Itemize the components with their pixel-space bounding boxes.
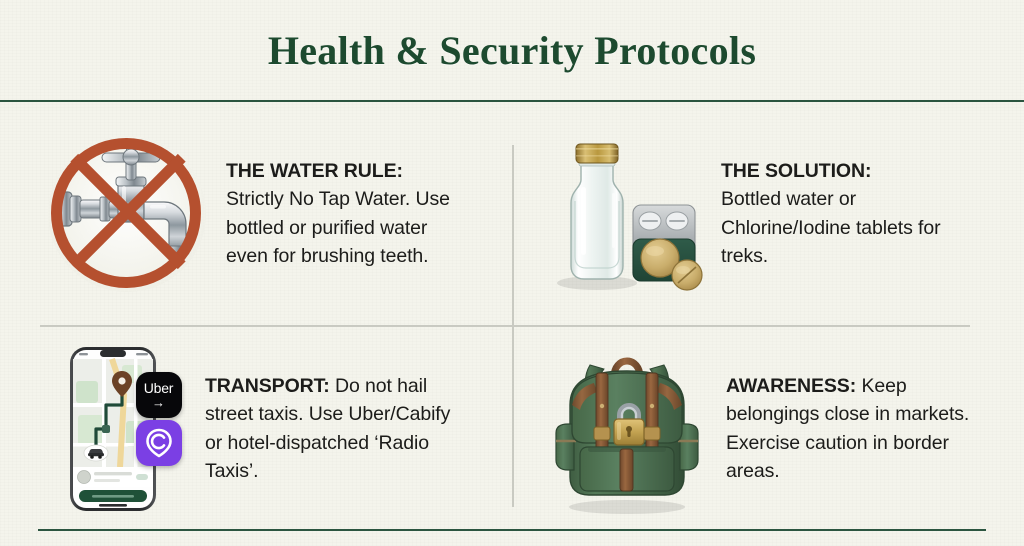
uber-label: Uber xyxy=(144,381,174,395)
solution-body: Bottled water or Chlorine/Iodine tablets… xyxy=(721,188,941,267)
cabify-pin-icon xyxy=(145,428,173,458)
transport-lead: TRANSPORT: xyxy=(205,375,330,397)
title-area: Health & Security Protocols xyxy=(0,0,1024,101)
quadrant-transport: Uber → TRANSPORT: Do not hail street tax… xyxy=(0,327,512,530)
no-tap-water-icon xyxy=(38,129,218,299)
locked-backpack-icon xyxy=(542,339,712,519)
awareness-text: AWARENESS: Keep belongings close in mark… xyxy=(712,372,971,485)
bottled-water-and-tablets-icon xyxy=(542,129,707,299)
awareness-lead: AWARENESS: xyxy=(726,375,856,397)
ride-hailing-phone-icon: Uber → xyxy=(60,341,195,516)
transport-text: TRANSPORT: Do not hail street taxis. Use… xyxy=(195,372,455,485)
uber-arrow-icon: → xyxy=(152,396,165,409)
quadrant-water-rule: THE WATER RULE: Strictly No Tap Water. U… xyxy=(0,102,512,325)
quadrant-solution: THE SOLUTION: Bottled water or Chlorine/… xyxy=(514,102,1024,325)
bottom-divider-rule xyxy=(38,529,986,531)
water-rule-text: THE WATER RULE: Strictly No Tap Water. U… xyxy=(218,157,471,270)
infographic-page: Health & Security Protocols xyxy=(0,0,1024,546)
quadrant-awareness: AWARENESS: Keep belongings close in mark… xyxy=(514,327,1024,530)
solution-text: THE SOLUTION: Bottled water or Chlorine/… xyxy=(707,157,951,270)
page-title: Health & Security Protocols xyxy=(268,27,756,74)
water-rule-lead: THE WATER RULE: xyxy=(226,157,471,185)
water-rule-body: Strictly No Tap Water. Use bottled or pu… xyxy=(226,188,450,267)
cabify-app-badge[interactable] xyxy=(136,420,182,466)
quadrant-grid: THE WATER RULE: Strictly No Tap Water. U… xyxy=(0,102,1024,530)
solution-lead: THE SOLUTION: xyxy=(721,157,951,185)
uber-app-badge[interactable]: Uber → xyxy=(136,372,182,418)
